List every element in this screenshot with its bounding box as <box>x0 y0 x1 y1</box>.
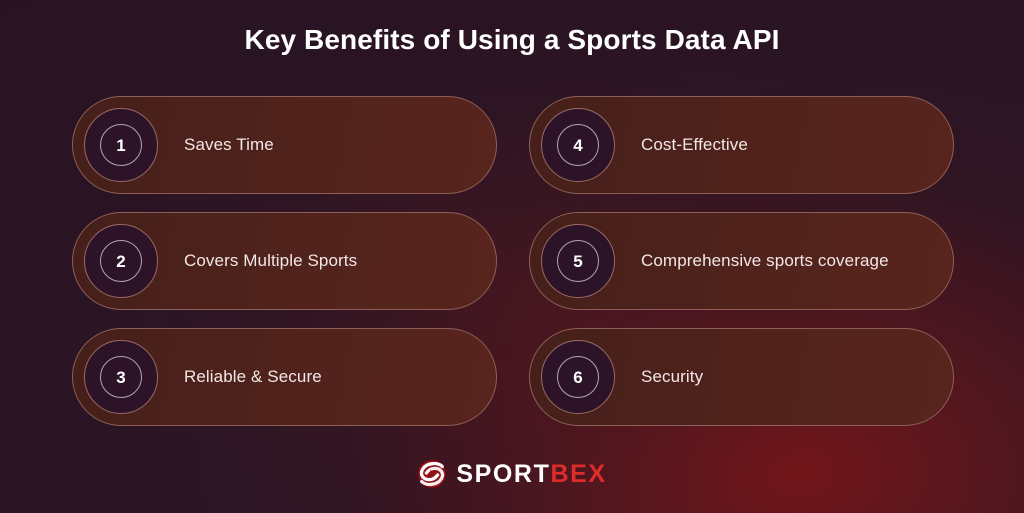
benefit-card[interactable]: 4 Cost-Effective <box>529 96 954 194</box>
benefit-label: Comprehensive sports coverage <box>641 250 889 272</box>
badge-outer-ring: 3 <box>84 340 158 414</box>
benefit-number-badge: 6 <box>557 356 599 398</box>
badge-outer-ring: 6 <box>541 340 615 414</box>
sportbex-swoosh-icon <box>417 459 447 489</box>
page-title: Key Benefits of Using a Sports Data API <box>0 24 1024 56</box>
benefit-label: Cost-Effective <box>641 134 748 156</box>
brand-logo: SPORT BEX <box>0 459 1024 489</box>
benefit-number-badge: 5 <box>557 240 599 282</box>
benefit-label: Reliable & Secure <box>184 366 322 388</box>
benefit-label: Security <box>641 366 703 388</box>
logo-text-primary: SPORT <box>456 462 550 487</box>
benefit-label: Covers Multiple Sports <box>184 250 357 272</box>
badge-outer-ring: 2 <box>84 224 158 298</box>
benefit-card[interactable]: 1 Saves Time <box>72 96 497 194</box>
badge-outer-ring: 1 <box>84 108 158 182</box>
benefit-card[interactable]: 5 Comprehensive sports coverage <box>529 212 954 310</box>
benefit-card[interactable]: 3 Reliable & Secure <box>72 328 497 426</box>
benefits-grid: 1 Saves Time 4 Cost-Effective 2 Covers M… <box>72 96 954 426</box>
benefit-number-badge: 1 <box>100 124 142 166</box>
badge-outer-ring: 5 <box>541 224 615 298</box>
benefit-card[interactable]: 2 Covers Multiple Sports <box>72 212 497 310</box>
badge-outer-ring: 4 <box>541 108 615 182</box>
logo-text-accent: BEX <box>550 462 606 487</box>
benefit-label: Saves Time <box>184 134 274 156</box>
infographic-canvas: Key Benefits of Using a Sports Data API … <box>0 0 1024 513</box>
benefit-card[interactable]: 6 Security <box>529 328 954 426</box>
benefit-number-badge: 4 <box>557 124 599 166</box>
benefit-number-badge: 3 <box>100 356 142 398</box>
logo-wordmark: SPORT BEX <box>456 462 606 487</box>
benefit-number-badge: 2 <box>100 240 142 282</box>
